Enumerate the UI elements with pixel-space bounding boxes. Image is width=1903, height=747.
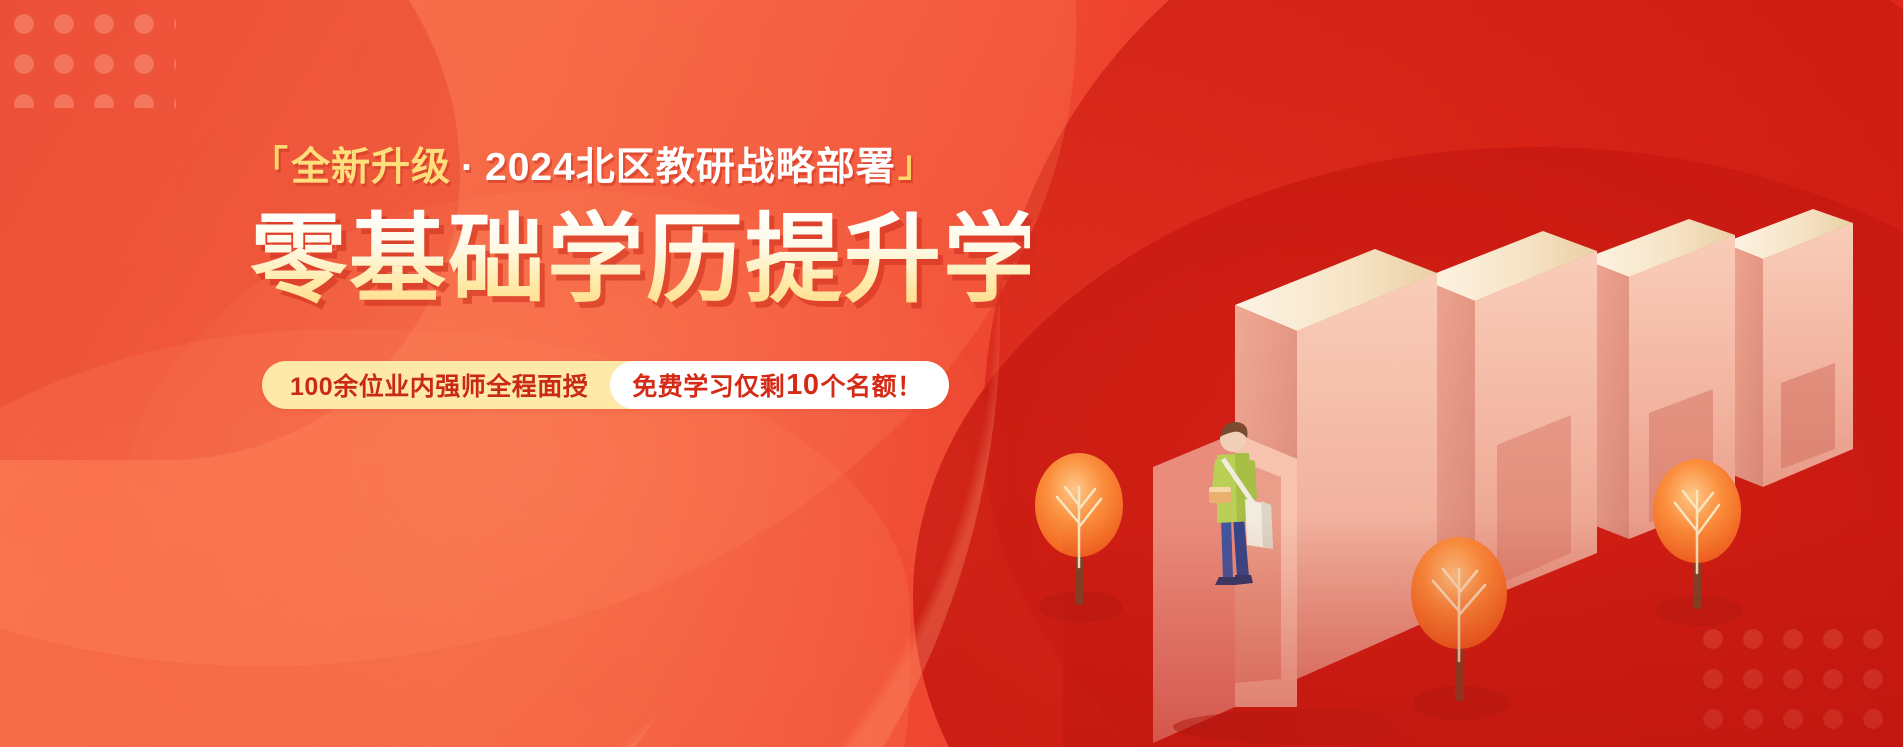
close-bracket: 」 bbox=[898, 146, 935, 182]
badge-right-prefix: 免费学习仅剩 bbox=[632, 367, 785, 403]
subtitle-separator: · bbox=[451, 146, 485, 189]
badge-right-suffix: 个名额！ bbox=[821, 367, 923, 403]
badge-seat-count: 10 bbox=[785, 369, 820, 402]
badge-left-text: 100余位业内强师全程面授 bbox=[262, 361, 614, 409]
promo-banner: 「全新升级·2024北区教研战略部署」 零基础学历提升学霸班 100余位业内强师… bbox=[0, 0, 1903, 747]
subtitle-rest: 2024北区教研战略部署 bbox=[485, 146, 896, 189]
banner-copy: 「全新升级·2024北区教研战略部署」 零基础学历提升学霸班 bbox=[250, 146, 1030, 312]
page-title: 零基础学历提升学霸班 bbox=[250, 209, 1030, 312]
promo-badge: 100余位业内强师全程面授 免费学习仅剩10个名额！ bbox=[262, 361, 949, 409]
open-bracket: 「 bbox=[252, 146, 289, 182]
subtitle-highlight: 全新升级 bbox=[291, 146, 451, 189]
banner-subtitle: 「全新升级·2024北区教研战略部署」 bbox=[250, 146, 1030, 187]
badge-right-text: 免费学习仅剩10个名额！ bbox=[610, 361, 948, 409]
